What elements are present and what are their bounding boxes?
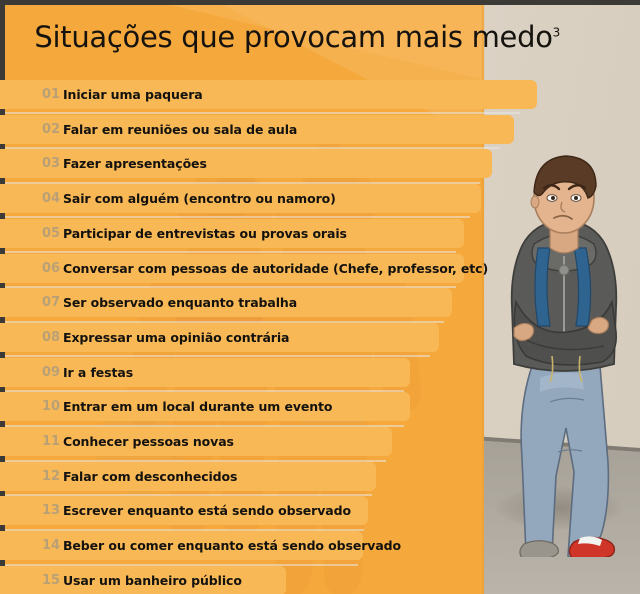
- bar-label: Falar em reuniões ou sala de aula: [63, 122, 297, 137]
- bar-row[interactable]: 08Expressar uma opinião contrária: [0, 323, 640, 352]
- bar-rank-number: 08: [42, 330, 63, 345]
- bar-row-text: 14Beber ou comer enquanto está sendo obs…: [42, 531, 401, 560]
- bar-row-text: 03Fazer apresentações: [42, 149, 207, 178]
- bar-row[interactable]: 14Beber ou comer enquanto está sendo obs…: [0, 531, 640, 560]
- bar-label: Escrever enquanto está sendo observado: [63, 503, 351, 518]
- bar-label: Usar um banheiro público: [63, 573, 242, 588]
- bar-row[interactable]: 04Sair com alguém (encontro ou namoro): [0, 184, 640, 213]
- bar-row[interactable]: 01Iniciar uma paquera: [0, 80, 640, 109]
- bar-row-text: 01Iniciar uma paquera: [42, 80, 203, 109]
- bar-rank-number: 05: [42, 226, 63, 241]
- bar-label: Entrar em um local durante um evento: [63, 399, 332, 414]
- bar-row[interactable]: 15Usar um banheiro público: [0, 566, 640, 594]
- bar-row-text: 11Conhecer pessoas novas: [42, 427, 234, 456]
- bar-row-text: 05Participar de entrevistas ou provas or…: [42, 219, 347, 248]
- bar-row-text: 02Falar em reuniões ou sala de aula: [42, 115, 297, 144]
- bar-row[interactable]: 02Falar em reuniões ou sala de aula: [0, 115, 640, 144]
- bar-row-text: 06Conversar com pessoas de autoridade (C…: [42, 254, 488, 283]
- bar-rank-number: 02: [42, 122, 63, 137]
- bar-rank-number: 12: [42, 469, 63, 484]
- bar-label: Conhecer pessoas novas: [63, 434, 234, 449]
- bar-label: Ser observado enquanto trabalha: [63, 295, 297, 310]
- bar-label: Iniciar uma paquera: [63, 87, 203, 102]
- infographic-canvas: Situações que provocam mais medo3 01Inic…: [0, 0, 640, 594]
- bar-row-text: 07Ser observado enquanto trabalha: [42, 288, 297, 317]
- bar-rank-number: 03: [42, 156, 63, 171]
- bar-row-text: 08Expressar uma opinião contrária: [42, 323, 289, 352]
- bar-row[interactable]: 07Ser observado enquanto trabalha: [0, 288, 640, 317]
- bar-label: Participar de entrevistas ou provas orai…: [63, 226, 347, 241]
- bar-label: Ir a festas: [63, 365, 133, 380]
- bar-label: Conversar com pessoas de autoridade (Che…: [63, 261, 488, 276]
- bar-row-text: 15Usar um banheiro público: [42, 566, 242, 594]
- bar-label: Falar com desconhecidos: [63, 469, 237, 484]
- bar-label: Expressar uma opinião contrária: [63, 330, 289, 345]
- ranked-bar-list: 01Iniciar uma paquera02Falar em reuniões…: [0, 0, 640, 594]
- bar-row[interactable]: 09Ir a festas: [0, 358, 640, 387]
- bar-rank-number: 01: [42, 87, 63, 102]
- bar-rank-number: 13: [42, 503, 63, 518]
- bar-row-text: 04Sair com alguém (encontro ou namoro): [42, 184, 336, 213]
- bar-rank-number: 06: [42, 261, 63, 276]
- bar-rank-number: 07: [42, 295, 63, 310]
- bar-row[interactable]: 13Escrever enquanto está sendo observado: [0, 496, 640, 525]
- bar-label: Fazer apresentações: [63, 156, 207, 171]
- bar-row-text: 13Escrever enquanto está sendo observado: [42, 496, 351, 525]
- bar-label: Beber ou comer enquanto está sendo obser…: [63, 538, 401, 553]
- bar-row[interactable]: 06Conversar com pessoas de autoridade (C…: [0, 254, 640, 283]
- bar-row[interactable]: 03Fazer apresentações: [0, 149, 640, 178]
- bar-rank-number: 10: [42, 399, 63, 414]
- bar-row[interactable]: 05Participar de entrevistas ou provas or…: [0, 219, 640, 248]
- bar-row-text: 12Falar com desconhecidos: [42, 462, 237, 491]
- bar-rank-number: 15: [42, 573, 63, 588]
- bar-row[interactable]: 12Falar com desconhecidos: [0, 462, 640, 491]
- bar-row-text: 10Entrar em um local durante um evento: [42, 392, 332, 421]
- bar-row[interactable]: 10Entrar em um local durante um evento: [0, 392, 640, 421]
- bar-row-text: 09Ir a festas: [42, 358, 133, 387]
- bar-rank-number: 11: [42, 434, 63, 449]
- bar-rank-number: 04: [42, 191, 63, 206]
- bar-label: Sair com alguém (encontro ou namoro): [63, 191, 336, 206]
- bar-row[interactable]: 11Conhecer pessoas novas: [0, 427, 640, 456]
- bar-rank-number: 09: [42, 365, 63, 380]
- bar-rank-number: 14: [42, 538, 63, 553]
